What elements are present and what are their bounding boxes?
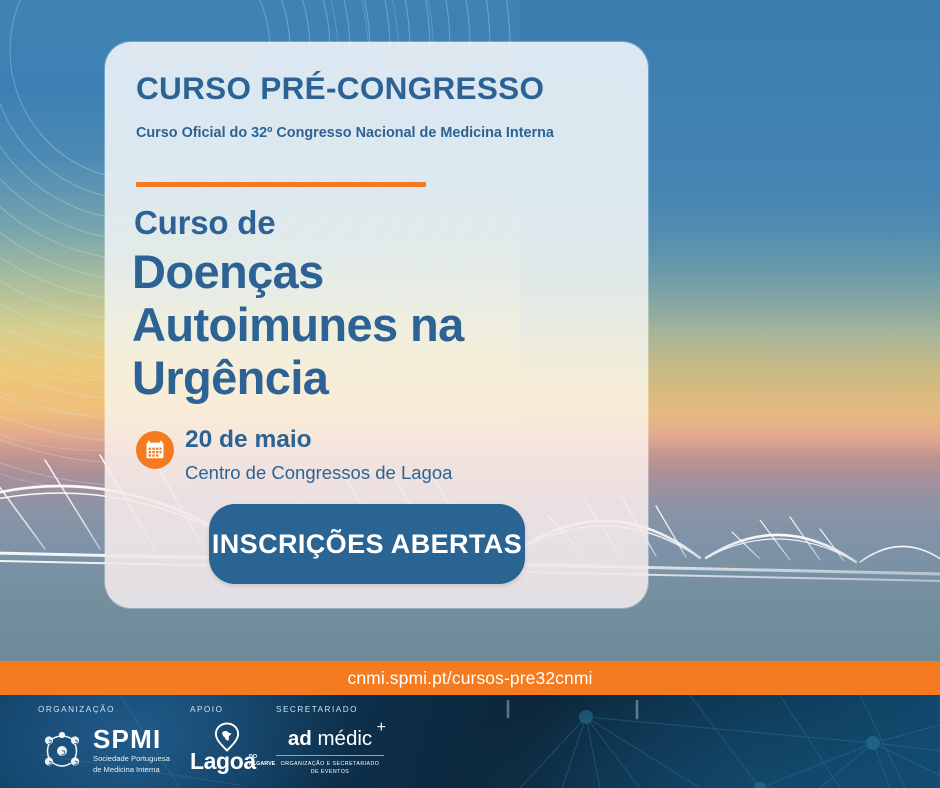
url-text: cnmi.spmi.pt/cursos-pre32cnmi: [347, 668, 592, 689]
footer-label-organizacao: ORGANIZAÇÃO: [38, 705, 115, 714]
url-bar[interactable]: cnmi.spmi.pt/cursos-pre32cnmi: [0, 661, 940, 695]
admedic-wordmark: ad médic+: [276, 729, 384, 750]
footer-bar: ORGANIZAÇÃO: [0, 695, 940, 788]
admedic-word-light: médic: [317, 727, 372, 750]
spmi-molecule-icon: [38, 729, 86, 773]
admedic-tagline: ORGANIZAÇÃO E SECRETARIADO DE EVENTOS: [276, 760, 384, 776]
registration-button[interactable]: INSCRIÇÕES ABERTAS: [209, 504, 525, 584]
event-venue: Centro de Congressos de Lagoa: [185, 462, 452, 484]
footer-label-apoio: APOIO: [190, 705, 223, 714]
admedic-logo[interactable]: ad médic+ ORGANIZAÇÃO E SECRETARIADO DE …: [276, 729, 384, 776]
orange-divider: [136, 182, 426, 187]
footer-label-secretariado: SECRETARIADO: [276, 705, 358, 714]
course-title-main: Doenças Autoimunes na Urgência: [132, 245, 464, 404]
footer-column-organizacao: ORGANIZAÇÃO: [0, 695, 180, 788]
admedic-word-bold: ad: [288, 727, 312, 750]
lagoa-wordmark: Lagoa: [190, 750, 256, 773]
subtitle-text: Curso Oficial do 32º Congresso Nacional …: [136, 124, 554, 144]
admedic-plus-icon: +: [377, 720, 386, 736]
calendar-icon: [136, 431, 174, 469]
spmi-wordmark: SPMI: [93, 726, 170, 752]
poster-canvas: CURSO PRÉ-CONGRESSO Curso Oficial do 32º…: [0, 0, 940, 788]
footer-column-secretariado: SECRETARIADO ad médic+ ORGANIZAÇÃO E SEC…: [276, 695, 406, 788]
admedic-divider: [276, 755, 384, 756]
content-card: CURSO PRÉ-CONGRESSO Curso Oficial do 32º…: [105, 42, 648, 608]
registration-button-label: INSCRIÇÕES ABERTAS: [212, 529, 522, 560]
lagoa-tagline: DO ALGARVE: [249, 754, 275, 769]
event-date: 20 de maio: [185, 426, 312, 454]
page-title: CURSO PRÉ-CONGRESSO: [136, 70, 544, 107]
spmi-tagline: Sociedade Portuguesa de Medicina Interna: [93, 754, 170, 776]
footer-column-apoio: APOIO Lagoa DO ALGARVE: [180, 695, 276, 788]
spmi-logo[interactable]: SPMI Sociedade Portuguesa de Medicina In…: [38, 726, 170, 776]
course-title-prefix: Curso de: [134, 204, 275, 242]
